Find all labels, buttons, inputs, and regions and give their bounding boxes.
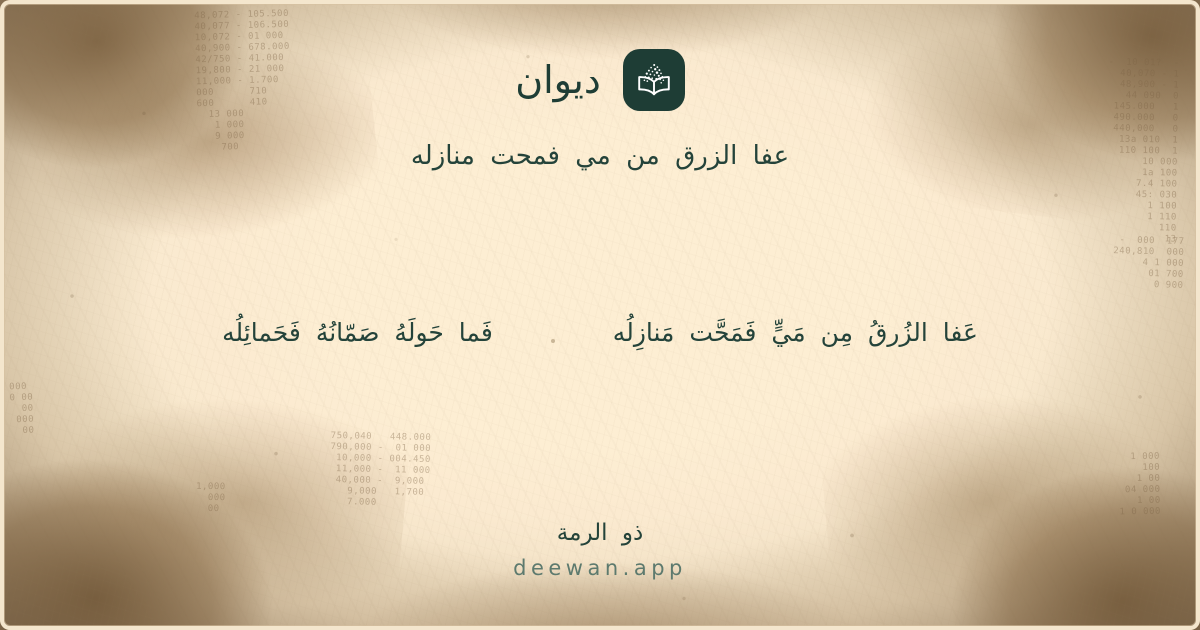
verse-first-hemistich: عَفا الزُرقُ مِن مَيٍّ فَمَحَّت مَنازِلُ… xyxy=(613,312,978,355)
card-footer: ذو الرمة deewan.app xyxy=(0,517,1200,580)
dot-separator-icon xyxy=(551,339,555,343)
card-content: ديوان عفا الزرق من مي فمحت منازله عَفا ا… xyxy=(0,0,1200,630)
brand-lockup: ديوان xyxy=(515,49,685,111)
verse-second-hemistich: فَما حَولَهُ صَمّانُهُ فَحَمائِلُه xyxy=(222,312,493,355)
open-book-with-sparkles-icon xyxy=(623,49,685,111)
brand-name: ديوان xyxy=(515,61,601,99)
poem-title: عفا الزرق من مي فمحت منازله xyxy=(411,137,789,176)
poet-name: ذو الرمة xyxy=(0,517,1200,549)
verse-line: عَفا الزُرقُ مِن مَيٍّ فَمَحَّت مَنازِلُ… xyxy=(0,312,1200,355)
site-url: deewan.app xyxy=(0,556,1200,580)
social-share-card: 48,072 - 105.500 40,077 - 106.500 10,072… xyxy=(0,0,1200,630)
